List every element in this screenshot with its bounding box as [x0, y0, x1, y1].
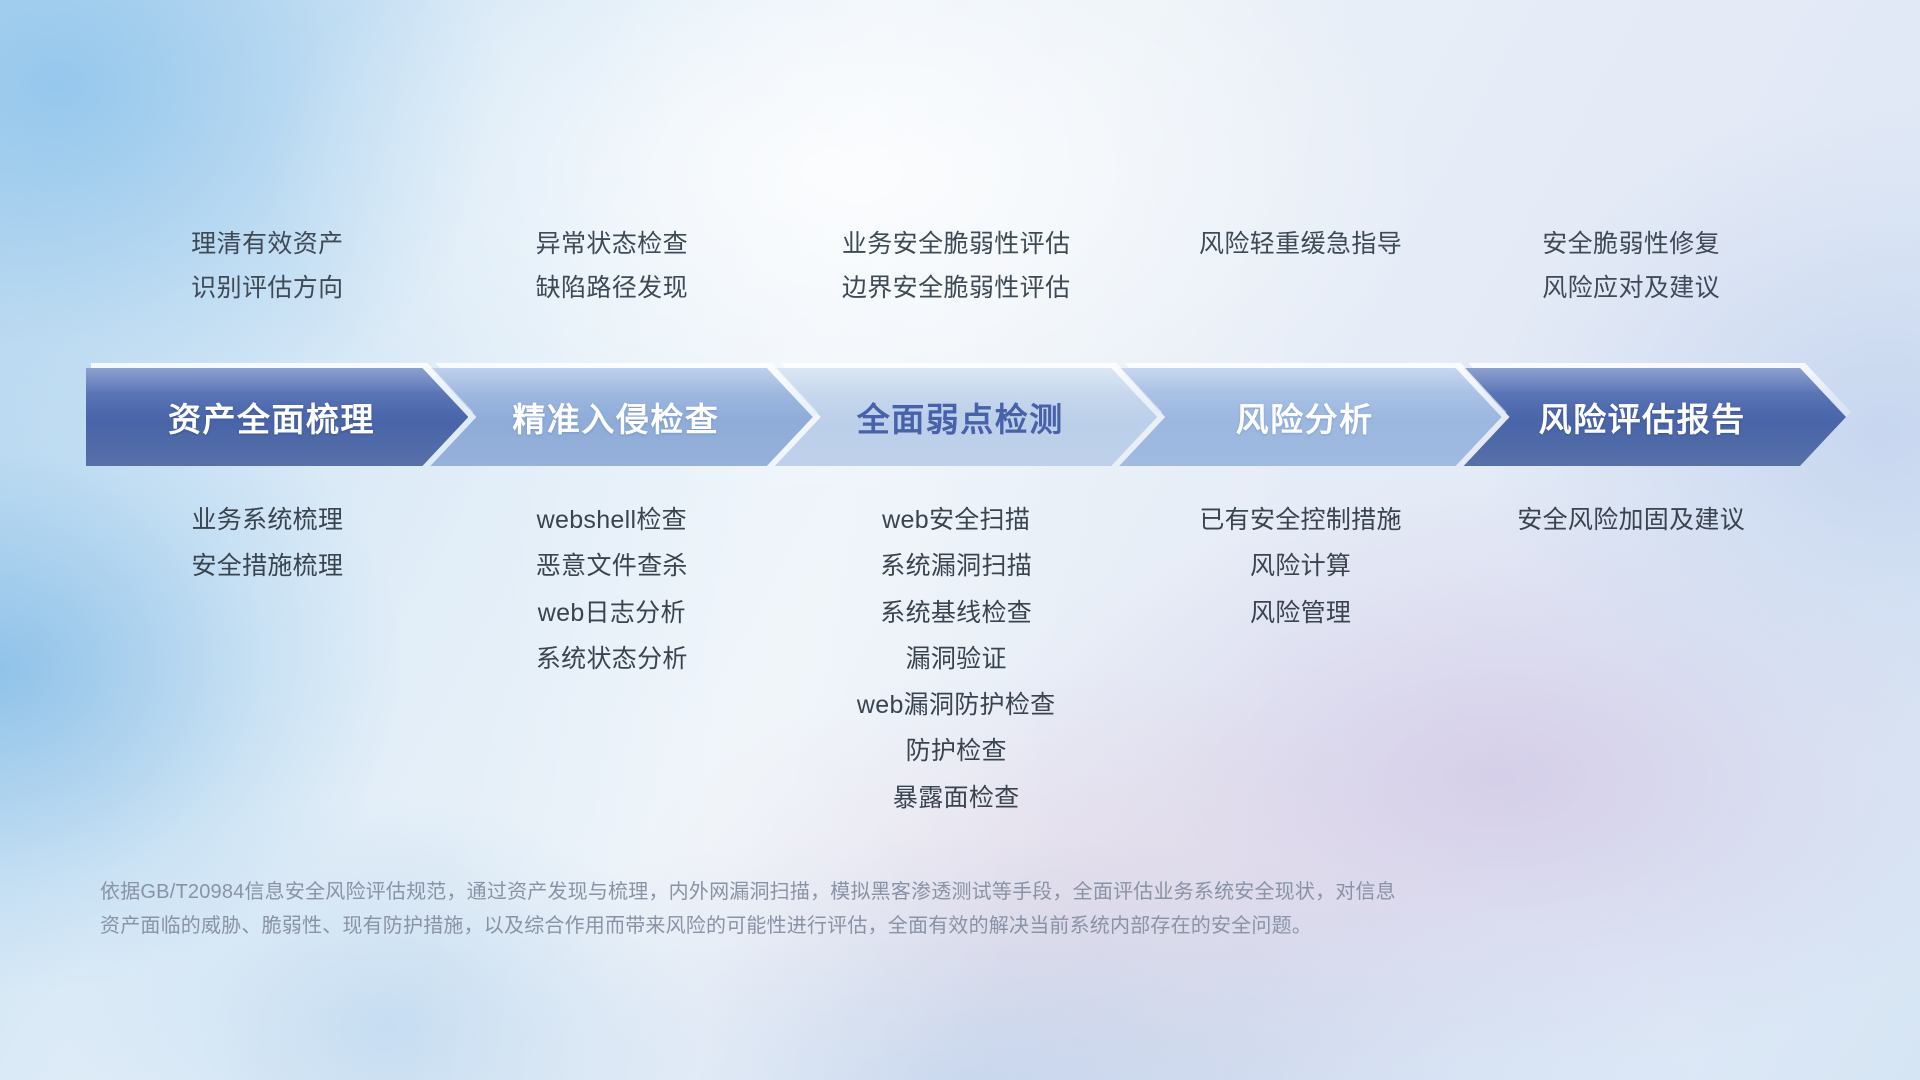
stage-item: web漏洞防护检查	[857, 690, 1056, 721]
stage-item: 风险计算	[1250, 551, 1351, 582]
top-notes-weakness-detection: 业务安全脆弱性评估边界安全脆弱性评估	[784, 228, 1128, 304]
slide-canvas: 理清有效资产识别评估方向异常状态检查缺陷路径发现业务安全脆弱性评估边界安全脆弱性…	[0, 0, 1920, 1080]
stage-title: 资产全面梳理	[168, 393, 375, 441]
top-note: 业务安全脆弱性评估	[842, 228, 1071, 260]
stage-item: web日志分析	[538, 598, 686, 629]
stage-item: 恶意文件查杀	[536, 551, 688, 582]
stage-item: 系统漏洞扫描	[880, 551, 1032, 582]
top-notes-asset-inventory: 理清有效资产识别评估方向	[95, 228, 439, 304]
footer-line-1: 依据GB/T20984信息安全风险评估规范，通过资产发现与梳理，内外网漏洞扫描，…	[100, 875, 1820, 909]
top-note: 安全脆弱性修复	[1542, 228, 1720, 260]
stage-item: 防护检查	[906, 736, 1007, 767]
top-note: 边界安全脆弱性评估	[842, 272, 1071, 304]
stage-item: 暴露面检查	[893, 783, 1020, 814]
stage-item: web安全扫描	[882, 505, 1030, 536]
process-stage-risk-report[interactable]: 风险评估报告	[1464, 368, 1846, 466]
stage-details-row: 业务系统梳理安全措施梳理webshell检查恶意文件查杀web日志分析系统状态分…	[86, 505, 1846, 814]
top-notes-risk-report: 安全脆弱性修复风险应对及建议	[1459, 228, 1803, 304]
stage-items-asset-inventory: 业务系统梳理安全措施梳理	[95, 505, 439, 814]
top-note: 风险轻重缓急指导	[1199, 228, 1402, 260]
stage-item: 风险管理	[1250, 598, 1351, 629]
stage-item: 业务系统梳理	[191, 505, 343, 536]
top-note: 风险应对及建议	[1542, 272, 1720, 304]
stage-item: 安全风险加固及建议	[1517, 505, 1745, 536]
stage-title: 风险分析	[1236, 393, 1374, 441]
footer-line-2: 资产面临的威胁、脆弱性、现有防护措施，以及综合作用而带来风险的可能性进行评估，全…	[100, 909, 1820, 943]
stage-item: 漏洞验证	[906, 644, 1007, 675]
stage-title: 风险评估报告	[1539, 393, 1746, 441]
stage-item: 系统基线检查	[880, 598, 1032, 629]
process-chevron-band: 资产全面梳理精准入侵检查全面弱点检测风险分析风险评估报告	[86, 368, 1846, 466]
stage-title: 全面弱点检测	[857, 393, 1064, 441]
top-notes-row: 理清有效资产识别评估方向异常状态检查缺陷路径发现业务安全脆弱性评估边界安全脆弱性…	[86, 228, 1846, 304]
process-stage-risk-analysis[interactable]: 风险分析	[1119, 368, 1501, 466]
stage-items-risk-report: 安全风险加固及建议	[1459, 505, 1803, 814]
stage-title: 精准入侵检查	[512, 393, 719, 441]
stage-item: 系统状态分析	[536, 644, 688, 675]
stage-items-risk-analysis: 已有安全控制措施风险计算风险管理	[1128, 505, 1472, 814]
stage-item: webshell检查	[537, 505, 687, 536]
process-stage-asset-inventory[interactable]: 资产全面梳理	[86, 368, 468, 466]
footer-description: 依据GB/T20984信息安全风险评估规范，通过资产发现与梳理，内外网漏洞扫描，…	[100, 875, 1820, 944]
process-stage-weakness-detection[interactable]: 全面弱点检测	[775, 368, 1157, 466]
stage-items-intrusion-check: webshell检查恶意文件查杀web日志分析系统状态分析	[440, 505, 784, 814]
stage-item: 已有安全控制措施	[1199, 505, 1401, 536]
process-stage-intrusion-check[interactable]: 精准入侵检查	[430, 368, 812, 466]
top-notes-risk-analysis: 风险轻重缓急指导	[1128, 228, 1472, 304]
top-notes-intrusion-check: 异常状态检查缺陷路径发现	[440, 228, 784, 304]
top-note: 识别评估方向	[191, 272, 343, 304]
stage-item: 安全措施梳理	[191, 551, 343, 582]
top-note: 异常状态检查	[536, 228, 688, 260]
top-note: 缺陷路径发现	[536, 272, 688, 304]
process-diagram: 理清有效资产识别评估方向异常状态检查缺陷路径发现业务安全脆弱性评估边界安全脆弱性…	[0, 0, 1920, 1080]
top-note: 理清有效资产	[191, 228, 343, 260]
stage-items-weakness-detection: web安全扫描系统漏洞扫描系统基线检查漏洞验证web漏洞防护检查防护检查暴露面检…	[784, 505, 1128, 814]
